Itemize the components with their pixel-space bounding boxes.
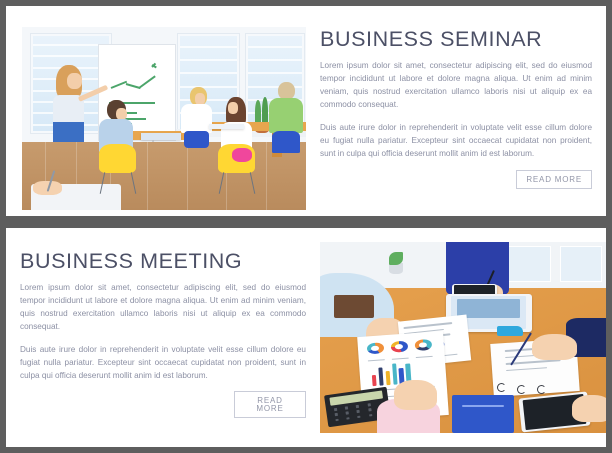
page-title-meeting: BUSINESS MEETING bbox=[20, 250, 306, 274]
stapler bbox=[497, 326, 523, 336]
meeting-paragraph-2: Duis aute irure dolor in reprehenderit i… bbox=[20, 343, 306, 383]
attendee-3-face bbox=[228, 102, 238, 114]
attendee-2-body bbox=[181, 104, 212, 133]
plant-leaves-right-2 bbox=[262, 97, 268, 124]
donut-chart-3 bbox=[414, 338, 432, 351]
donut-chart-2 bbox=[390, 340, 408, 353]
seminar-paragraph-1: Lorem ipsum dolor sit amet, consectetur … bbox=[320, 59, 592, 112]
meeting-illustration bbox=[320, 242, 606, 433]
desk-paper bbox=[141, 133, 181, 140]
presenter-face bbox=[67, 73, 81, 89]
bar-3 bbox=[385, 371, 390, 386]
attendee-2-skirt bbox=[184, 131, 210, 147]
banner-meeting: BUSINESS MEETING Lorem ipsum dolor sit a… bbox=[6, 228, 606, 447]
seminar-text-column: BUSINESS SEMINAR Lorem ipsum dolor sit a… bbox=[320, 28, 592, 189]
attendee-3-bag bbox=[232, 148, 252, 163]
attendee-4-trousers bbox=[272, 131, 300, 153]
donut-chart-1 bbox=[366, 342, 384, 355]
attendee-1-chair bbox=[99, 144, 136, 173]
right-person-hand bbox=[532, 334, 578, 361]
background-window-1 bbox=[503, 246, 551, 282]
attendee-2-face bbox=[195, 93, 205, 105]
pink-sleeve-hand bbox=[394, 380, 437, 411]
bottom-hand bbox=[572, 395, 606, 422]
background-window-2 bbox=[560, 246, 602, 282]
meeting-paragraph-1: Lorem ipsum dolor sit amet, consectetur … bbox=[20, 281, 306, 334]
meeting-text-column: BUSINESS MEETING Lorem ipsum dolor sit a… bbox=[20, 250, 306, 418]
read-more-button-seminar[interactable]: READ MORE bbox=[516, 170, 592, 189]
tablet-chart-image bbox=[457, 299, 520, 318]
meeting-button-row: READ MORE bbox=[20, 391, 306, 418]
page-frame: BUSINESS SEMINAR Lorem ipsum dolor sit a… bbox=[0, 0, 612, 453]
blue-binder bbox=[452, 395, 515, 433]
background-plant-leaves bbox=[389, 252, 403, 265]
banner-seminar: BUSINESS SEMINAR Lorem ipsum dolor sit a… bbox=[6, 6, 606, 216]
bar-1 bbox=[372, 374, 377, 386]
seminar-paragraph-2: Duis aute irure dolor in reprehenderit i… bbox=[320, 121, 592, 161]
desk-paper-2 bbox=[209, 124, 243, 129]
plant-leaves-right bbox=[255, 100, 261, 124]
left-person-watch bbox=[334, 295, 374, 318]
read-more-button-meeting[interactable]: READ MORE bbox=[234, 391, 306, 418]
bar-2 bbox=[378, 367, 384, 386]
seminar-illustration bbox=[22, 27, 306, 210]
seminar-button-row: READ MORE bbox=[320, 169, 592, 189]
attendee-4-body bbox=[269, 98, 303, 133]
page-title-seminar: BUSINESS SEMINAR bbox=[320, 28, 592, 52]
bar-4 bbox=[392, 363, 398, 385]
